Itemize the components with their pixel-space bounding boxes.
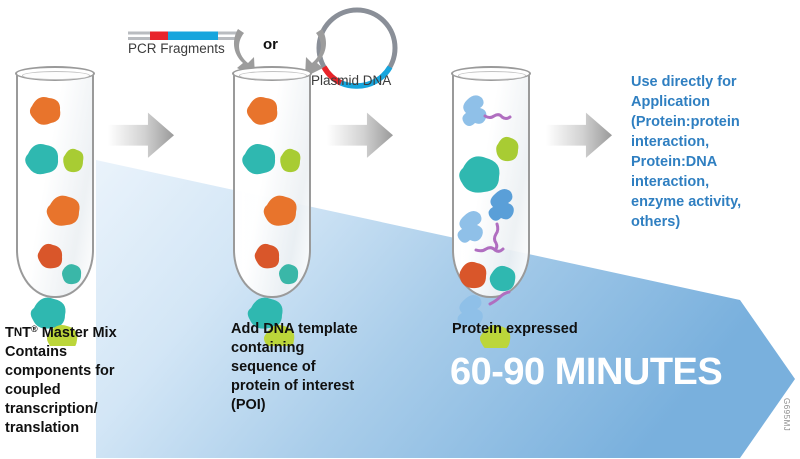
figure-code-watermark: G695MJ	[782, 398, 791, 431]
process-arrow-1	[108, 110, 174, 164]
caption-step-2-line-0: Add DNA template	[231, 320, 421, 339]
figure-canvas: PCR Fragments or Plasmid DNA	[0, 0, 800, 459]
caption-step-2-line-3: protein of interest	[231, 377, 421, 396]
pcr-fragments-label: PCR Fragments	[128, 41, 225, 56]
process-arrow-2	[327, 110, 393, 164]
application-line-2: (Protein:protein	[631, 112, 799, 132]
application-line-6: enzyme activity,	[631, 192, 799, 212]
caption-step-1-line-1: Contains	[5, 343, 185, 362]
tube-master-mix	[16, 66, 94, 298]
caption-step-1-line-4: transcription/	[5, 400, 185, 419]
application-line-7: others)	[631, 212, 799, 232]
process-arrow-3	[546, 110, 612, 164]
caption-step-3-line-0: Protein expressed	[452, 320, 652, 339]
caption-step-1-line-0: TNT® Master Mix	[5, 320, 185, 343]
caption-step-2: Add DNA template containing sequence of …	[231, 320, 421, 415]
caption-step-2-line-4: (POI)	[231, 396, 421, 415]
caption-step-2-line-2: sequence of	[231, 358, 421, 377]
caption-step-3: Protein expressed	[452, 320, 652, 339]
application-line-1: Application	[631, 92, 799, 112]
tube-expressed-protein	[452, 66, 530, 298]
protein-ribbon	[462, 95, 486, 126]
application-line-0: Use directly for	[631, 72, 799, 92]
application-line-3: interaction,	[631, 132, 799, 152]
application-line-4: Protein:DNA	[631, 152, 799, 172]
caption-step-2-line-1: containing	[231, 339, 421, 358]
timing-label: 60-90 MINUTES	[450, 351, 722, 394]
tube-contents-master-mix	[16, 66, 94, 298]
tube-contents-expressed	[452, 66, 530, 298]
caption-step-1: TNT® Master Mix Contains components for …	[5, 320, 185, 438]
application-line-5: interaction,	[631, 172, 799, 192]
tube-contents-with-template	[233, 66, 311, 298]
application-text-block: Use directly for Application (Protein:pr…	[631, 72, 799, 232]
caption-step-1-line-5: translation	[5, 419, 185, 438]
caption-step-1-line-3: coupled	[5, 381, 185, 400]
tube-with-dna-template	[233, 66, 311, 298]
caption-step-1-line-2: components for	[5, 362, 185, 381]
